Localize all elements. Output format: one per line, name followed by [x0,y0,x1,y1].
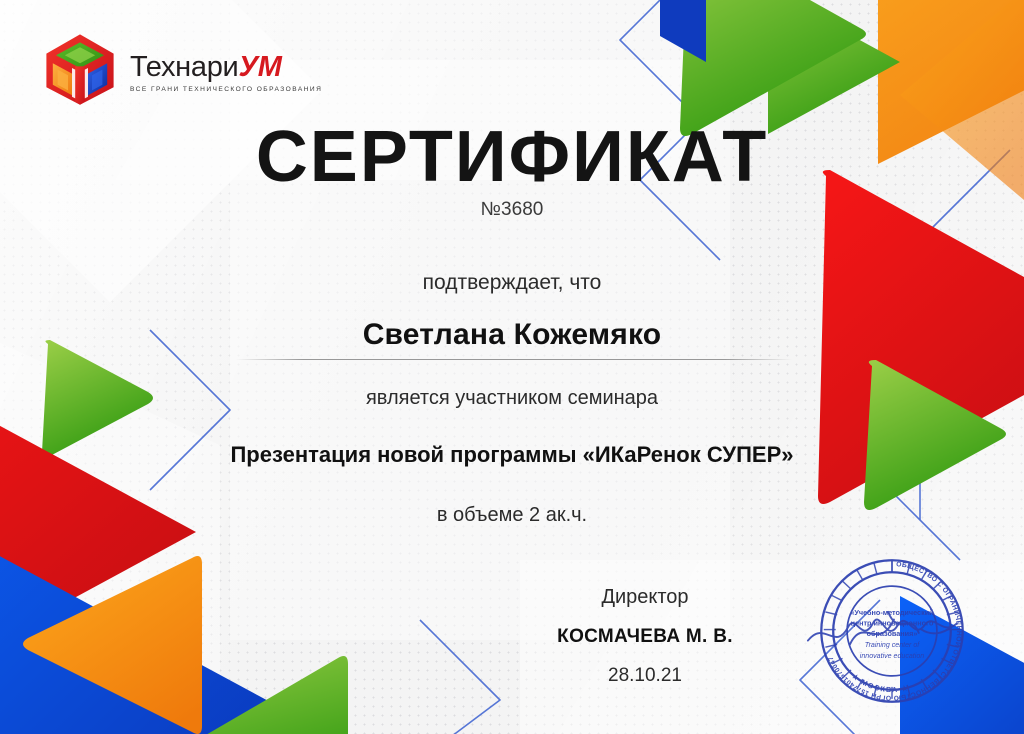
signatory-name: КОСМАЧЕВА М. В. [520,626,770,648]
holder-name: Светлана Кожемяко [0,318,1024,352]
brand-tagline: ВСЕ ГРАНИ ТЕХНИЧЕСКОГО ОБРАЗОВАНИЯ [130,86,322,93]
certificate-number: №3680 [0,199,1024,221]
brand-name: ТехнариУМ [130,53,322,82]
seal-inner-line-5: innovative education [860,653,924,660]
official-round-stamp-icon: ОБЩЕСТВО С ОГРАНИЧЕННОЙ ОТВЕТСТВЕННОСТЬЮ… [806,545,978,717]
signature-block: Директор КОСМАЧЕВА М. В. 28.10.21 [520,586,770,687]
official-seal: ОБЩЕСТВО С ОГРАНИЧЕННОЙ ОТВЕТСТВЕННОСТЬЮ… [806,545,978,717]
holder-name-divider [236,359,792,360]
isometric-cube-logo-icon [40,28,120,108]
program-title: Презентация новой программы «ИКаРенок СУ… [0,442,1024,468]
brand-name-part2: УМ [238,51,281,83]
brand-logo: ТехнариУМ ВСЕ ГРАНИ ТЕХНИЧЕСКОГО ОБРАЗОВ… [40,28,322,108]
certificate-document: ТехнариУМ ВСЕ ГРАНИ ТЕХНИЧЕСКОГО ОБРАЗОВ… [0,0,1024,734]
signatory-role: Директор [520,586,770,609]
seal-inner-line-4: Training center of [865,642,920,649]
brand-wordmark: ТехнариУМ ВСЕ ГРАНИ ТЕХНИЧЕСКОГО ОБРАЗОВ… [130,43,322,93]
certificate-title: СЕРТИФИКАТ [0,121,1024,193]
confirms-label: подтверждает, что [0,271,1024,295]
brand-name-part1: Технари [130,51,238,83]
issue-date: 28.10.21 [520,665,770,687]
participation-role: является участником семинара [0,387,1024,410]
course-volume: в объеме 2 ак.ч. [0,504,1024,527]
seal-inner-line-1: «Учебно-методический [850,608,933,617]
